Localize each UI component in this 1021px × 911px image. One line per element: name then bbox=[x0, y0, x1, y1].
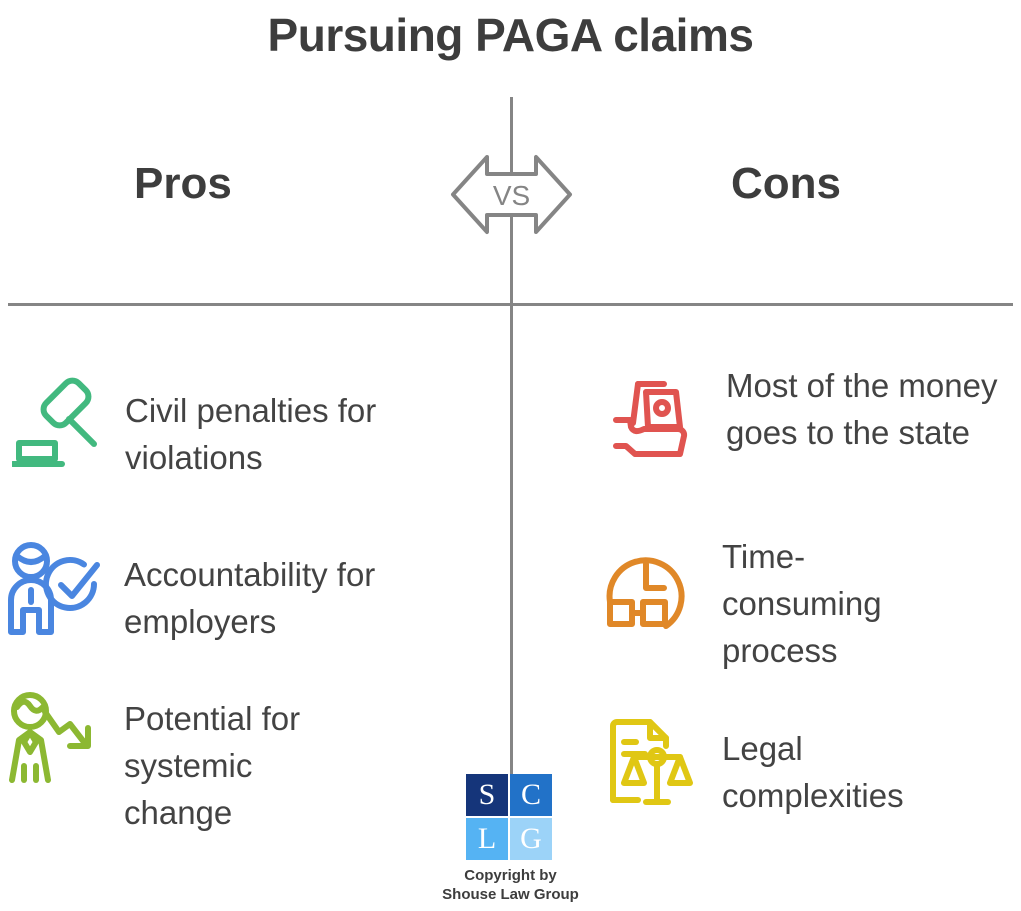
double-arrow-vs-badge-icon: VS bbox=[447, 143, 576, 246]
vs-badge: VS bbox=[447, 143, 576, 246]
clock-timer-icon bbox=[598, 540, 694, 636]
copyright-line-2: Shouse Law Group bbox=[0, 885, 1021, 904]
horizontal-divider bbox=[8, 303, 1013, 306]
list-item-label: Accountability for employers bbox=[124, 552, 394, 646]
logo-grid: S C L G bbox=[466, 774, 552, 860]
list-item-label: Most of the money goes to the state bbox=[726, 363, 1001, 457]
vs-label: VS bbox=[493, 180, 530, 211]
list-item-label: Time-consuming process bbox=[722, 534, 942, 675]
list-item: Civil penalties for violations bbox=[12, 374, 395, 482]
column-heading-pros: Pros bbox=[134, 159, 232, 209]
logo-cell-c: C bbox=[510, 774, 552, 816]
list-item-label: Legal complexities bbox=[722, 726, 977, 820]
page-title: Pursuing PAGA claims bbox=[0, 8, 1021, 62]
column-heading-cons: Cons bbox=[731, 159, 841, 209]
logo-cell-g: G bbox=[510, 818, 552, 860]
list-item: Accountability for employers bbox=[6, 540, 394, 646]
copyright-line-1: Copyright by bbox=[0, 866, 1021, 885]
person-check-icon bbox=[6, 540, 102, 636]
document-scales-icon bbox=[598, 712, 694, 808]
hand-giving-money-icon bbox=[602, 370, 698, 466]
logo-cell-l: L bbox=[466, 818, 508, 860]
list-item-label: Civil penalties for violations bbox=[125, 388, 395, 482]
list-item: Most of the money goes to the state bbox=[602, 370, 1001, 466]
list-item: Time-consuming process bbox=[598, 540, 942, 675]
logo-cell-s: S bbox=[466, 774, 508, 816]
copyright-notice: Copyright by Shouse Law Group bbox=[0, 866, 1021, 904]
gavel-icon bbox=[12, 374, 108, 470]
shouse-law-group-logo: S C L G bbox=[466, 774, 556, 860]
list-item-label: Potential for systemic change bbox=[124, 696, 364, 837]
list-item: Potential for systemic change bbox=[2, 688, 364, 837]
person-declining-arrow-icon bbox=[2, 688, 98, 784]
list-item: Legal complexities bbox=[598, 712, 977, 820]
